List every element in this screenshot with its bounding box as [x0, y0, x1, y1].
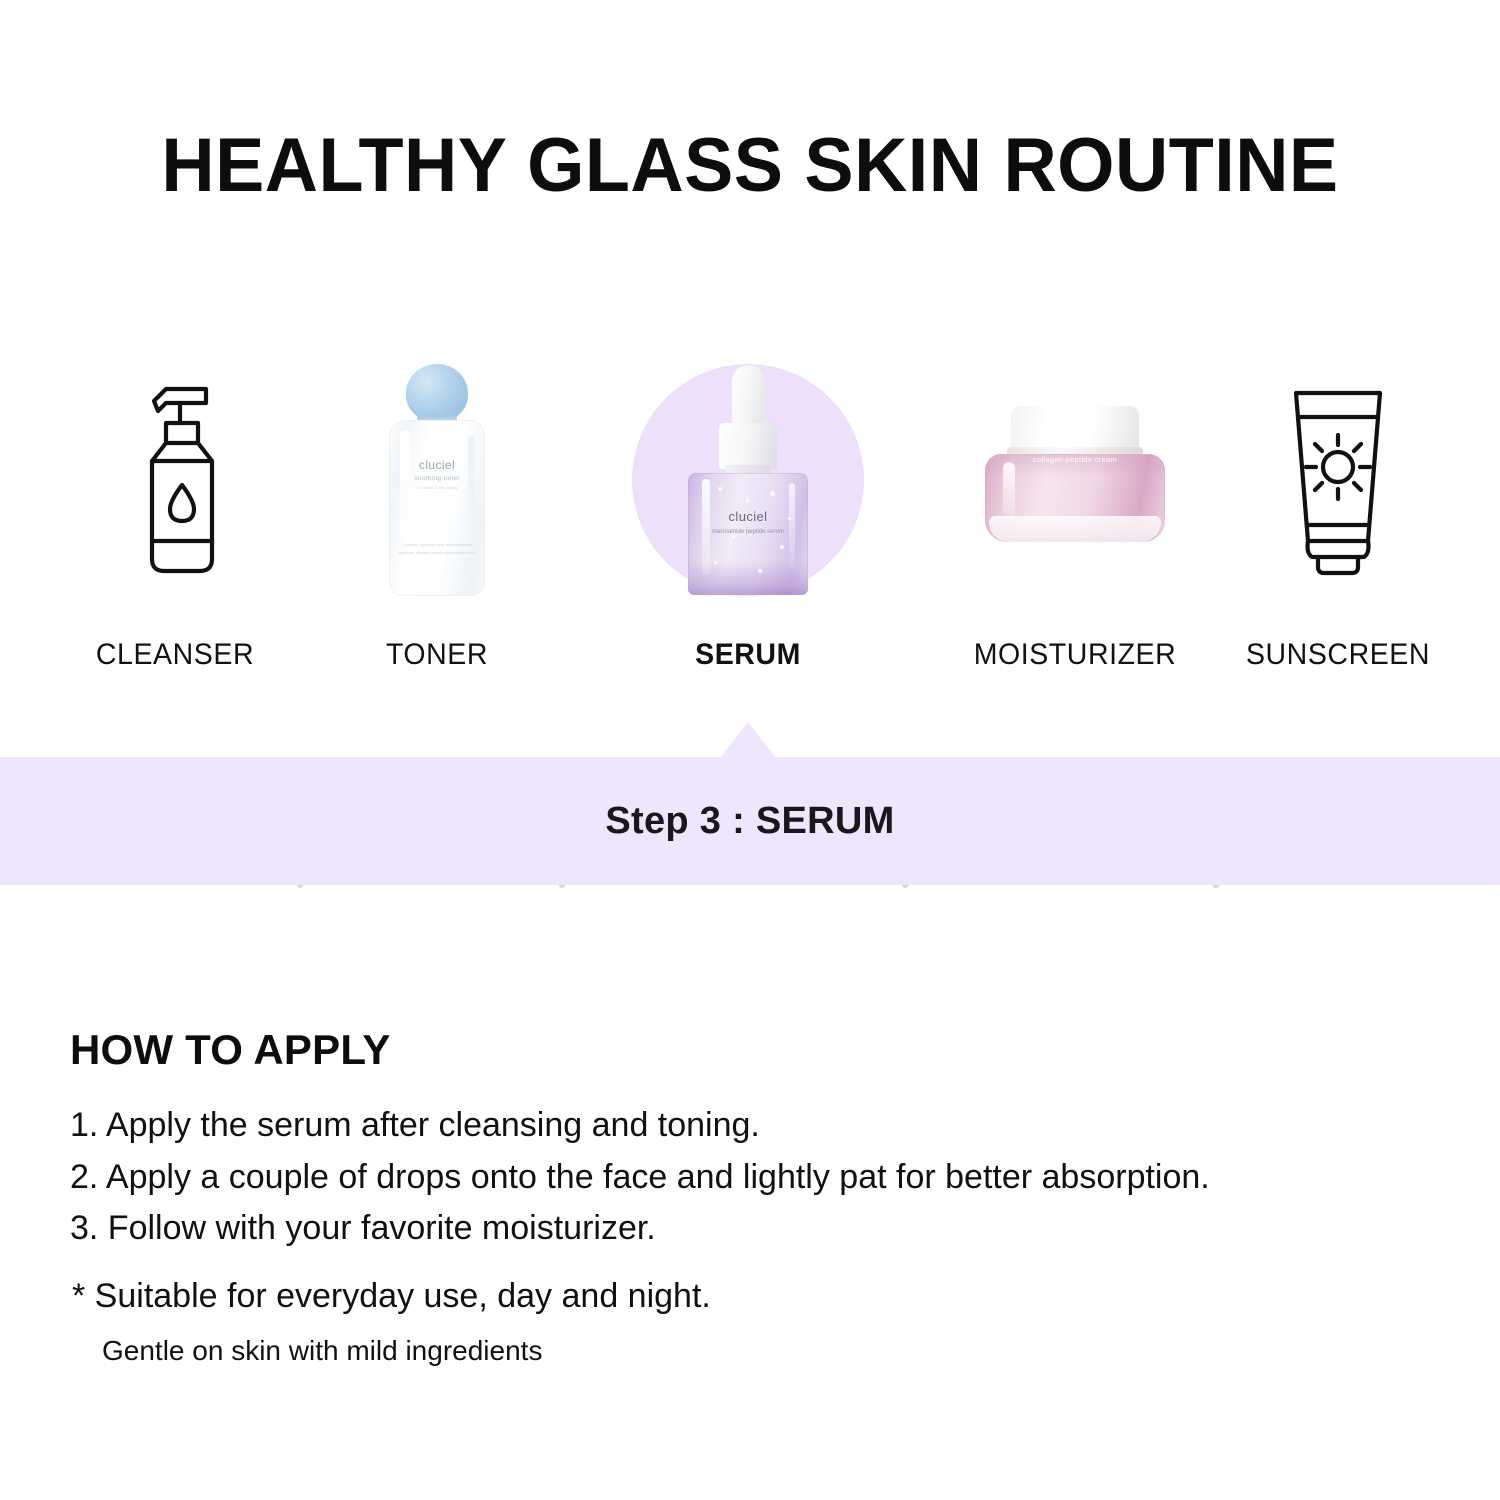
- serum-name-label: niacinamide peptide serum: [688, 527, 808, 537]
- routine-step-serum[interactable]: cluciel niacinamide peptide serum SERUM: [623, 350, 873, 700]
- routine-step-toner[interactable]: cluciel soothing toner 10 nature & skin …: [312, 350, 562, 700]
- routine-step-label: SUNSCREEN: [1219, 638, 1457, 672]
- routine-strip: CLEANSER cluciel soothing toner: [0, 350, 1500, 700]
- howto-step-3: 3. Follow with your favorite moisturizer…: [70, 1203, 1450, 1255]
- toner-ingredients: 7 peptides, hyaluronic acid, snow mushro…: [397, 542, 477, 557]
- routine-step-sunscreen[interactable]: SUNSCREEN: [1213, 350, 1463, 700]
- banner-pointer-triangle: [720, 722, 776, 758]
- routine-step-label: MOISTURIZER: [956, 638, 1194, 672]
- sunscreen-tube-icon: [1213, 350, 1463, 610]
- serum-dropper-bottle-icon: cluciel niacinamide peptide serum: [623, 350, 873, 610]
- howto-heading: HOW TO APPLY: [70, 1026, 391, 1074]
- step-banner: Step 3 : SERUM: [0, 757, 1500, 885]
- routine-step-cleanser[interactable]: CLEANSER: [50, 350, 300, 700]
- serum-brand-label: cluciel: [688, 509, 808, 524]
- routine-step-moisturizer[interactable]: cluciel collagen peptide cream MOISTURIZ…: [950, 350, 1200, 700]
- toner-body: cluciel soothing toner 10 nature & skin …: [389, 420, 485, 596]
- toner-bottle-icon: cluciel soothing toner 10 nature & skin …: [312, 350, 562, 610]
- pump-bottle-icon: [50, 350, 300, 610]
- jar-brand-label: cluciel: [985, 436, 1165, 451]
- howto-note: * Suitable for everyday use, day and nig…: [72, 1272, 1452, 1370]
- howto-steps-list: 1. Apply the serum after cleansing and t…: [70, 1100, 1450, 1255]
- step-banner-label: Step 3 : SERUM: [0, 757, 1500, 885]
- routine-step-label: TONER: [318, 638, 556, 672]
- howto-note-main: * Suitable for everyday use, day and nig…: [72, 1272, 1452, 1321]
- serum-body: cluciel niacinamide peptide serum: [688, 473, 808, 595]
- howto-note-sub: Gentle on skin with mild ingredients: [102, 1331, 1452, 1370]
- howto-step-2: 2. Apply a couple of drops onto the face…: [70, 1152, 1450, 1204]
- jar-name-label: collagen peptide cream: [985, 455, 1165, 464]
- toner-name-label: soothing toner: [389, 475, 485, 482]
- routine-step-label: SERUM: [629, 638, 867, 672]
- dropper-bulb: [732, 365, 765, 429]
- toner-fineprint: 10 nature & skin caring: [389, 484, 485, 492]
- page-title: HEALTHY GLASS SKIN ROUTINE: [23, 126, 1478, 206]
- cream-jar-icon: cluciel collagen peptide cream: [950, 350, 1200, 610]
- routine-step-label: CLEANSER: [56, 638, 294, 672]
- howto-step-1: 1. Apply the serum after cleansing and t…: [70, 1100, 1450, 1152]
- dropper-collar: [719, 423, 777, 469]
- jar-body: [985, 454, 1165, 542]
- toner-brand-label: cluciel: [389, 458, 485, 472]
